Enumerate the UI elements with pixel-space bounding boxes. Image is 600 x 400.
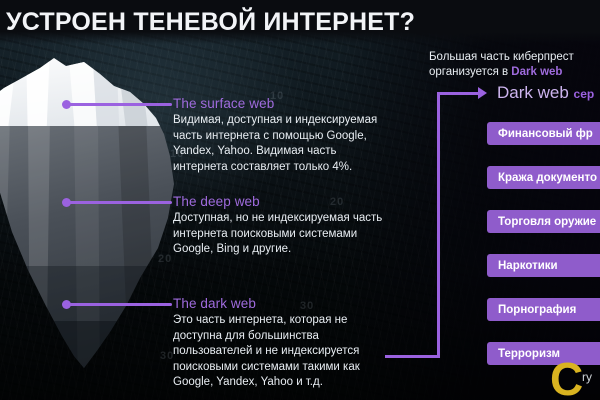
connector-line-deep (66, 201, 172, 204)
layer-body-deep: Доступная, но не индексируемая часть инт… (173, 211, 391, 258)
page-title: УСТРОЕН ТЕНЕВОЙ ИНТЕРНЕТ? (6, 8, 415, 37)
right-intro-line2-prefix: организуется в (429, 66, 511, 78)
layer-body-dark: Это часть интернета, которая не доступна… (173, 313, 391, 391)
right-intro-line2: организуется в Dark web (429, 65, 600, 80)
bracket-bottom-leg (385, 355, 440, 358)
right-heading-main: Dark web (497, 83, 569, 102)
right-intro-accent: Dark web (511, 66, 562, 78)
layer-block-dark: The dark web Это часть интернета, котора… (173, 296, 391, 391)
layer-heading-dark: The dark web (173, 296, 391, 311)
right-heading-sub: сер (574, 87, 595, 101)
connector-line-surface (66, 103, 172, 106)
layer-heading-surface: The surface web (173, 96, 391, 111)
service-pill-label: Порнография (498, 304, 576, 316)
right-intro-text: Большая часть киберпрест организуется в … (429, 50, 600, 80)
arrow-head-icon (478, 87, 487, 99)
bracket-vertical (437, 92, 440, 358)
service-pill-label: Финансовый фр (498, 128, 593, 140)
layer-block-surface: The surface web Видимая, доступная и инд… (173, 96, 391, 175)
layer-heading-deep: The deep web (173, 194, 391, 209)
service-pill-label: Наркотики (498, 260, 558, 272)
service-pill-drugs[interactable]: Наркотики (487, 254, 600, 277)
watermark-suffix: ry (582, 370, 592, 384)
right-panel-heading: Dark web сер (497, 83, 594, 103)
service-pill-label: Торговля оружие (498, 216, 596, 228)
service-pill-document-theft[interactable]: Кража документо (487, 166, 600, 189)
service-pill-pornography[interactable]: Порнография (487, 298, 600, 321)
bracket-top-leg (437, 92, 481, 95)
connector-line-dark (66, 303, 172, 306)
layer-body-surface: Видимая, доступная и индексируемая часть… (173, 113, 391, 175)
service-pill-financial-fraud[interactable]: Финансовый фр (487, 122, 600, 145)
service-pill-label: Кража документо (498, 172, 597, 184)
service-pill-weapons-trade[interactable]: Торговля оружие (487, 210, 600, 233)
watermark-letter-icon: C (550, 356, 583, 400)
layer-block-deep: The deep web Доступная, но не индексируе… (173, 194, 391, 258)
infographic-canvas: 10 10 20 30 10 20 30 (0, 0, 600, 400)
right-intro-line1: Большая часть киберпрест (429, 50, 600, 65)
watermark-logo: C ry (548, 358, 600, 400)
